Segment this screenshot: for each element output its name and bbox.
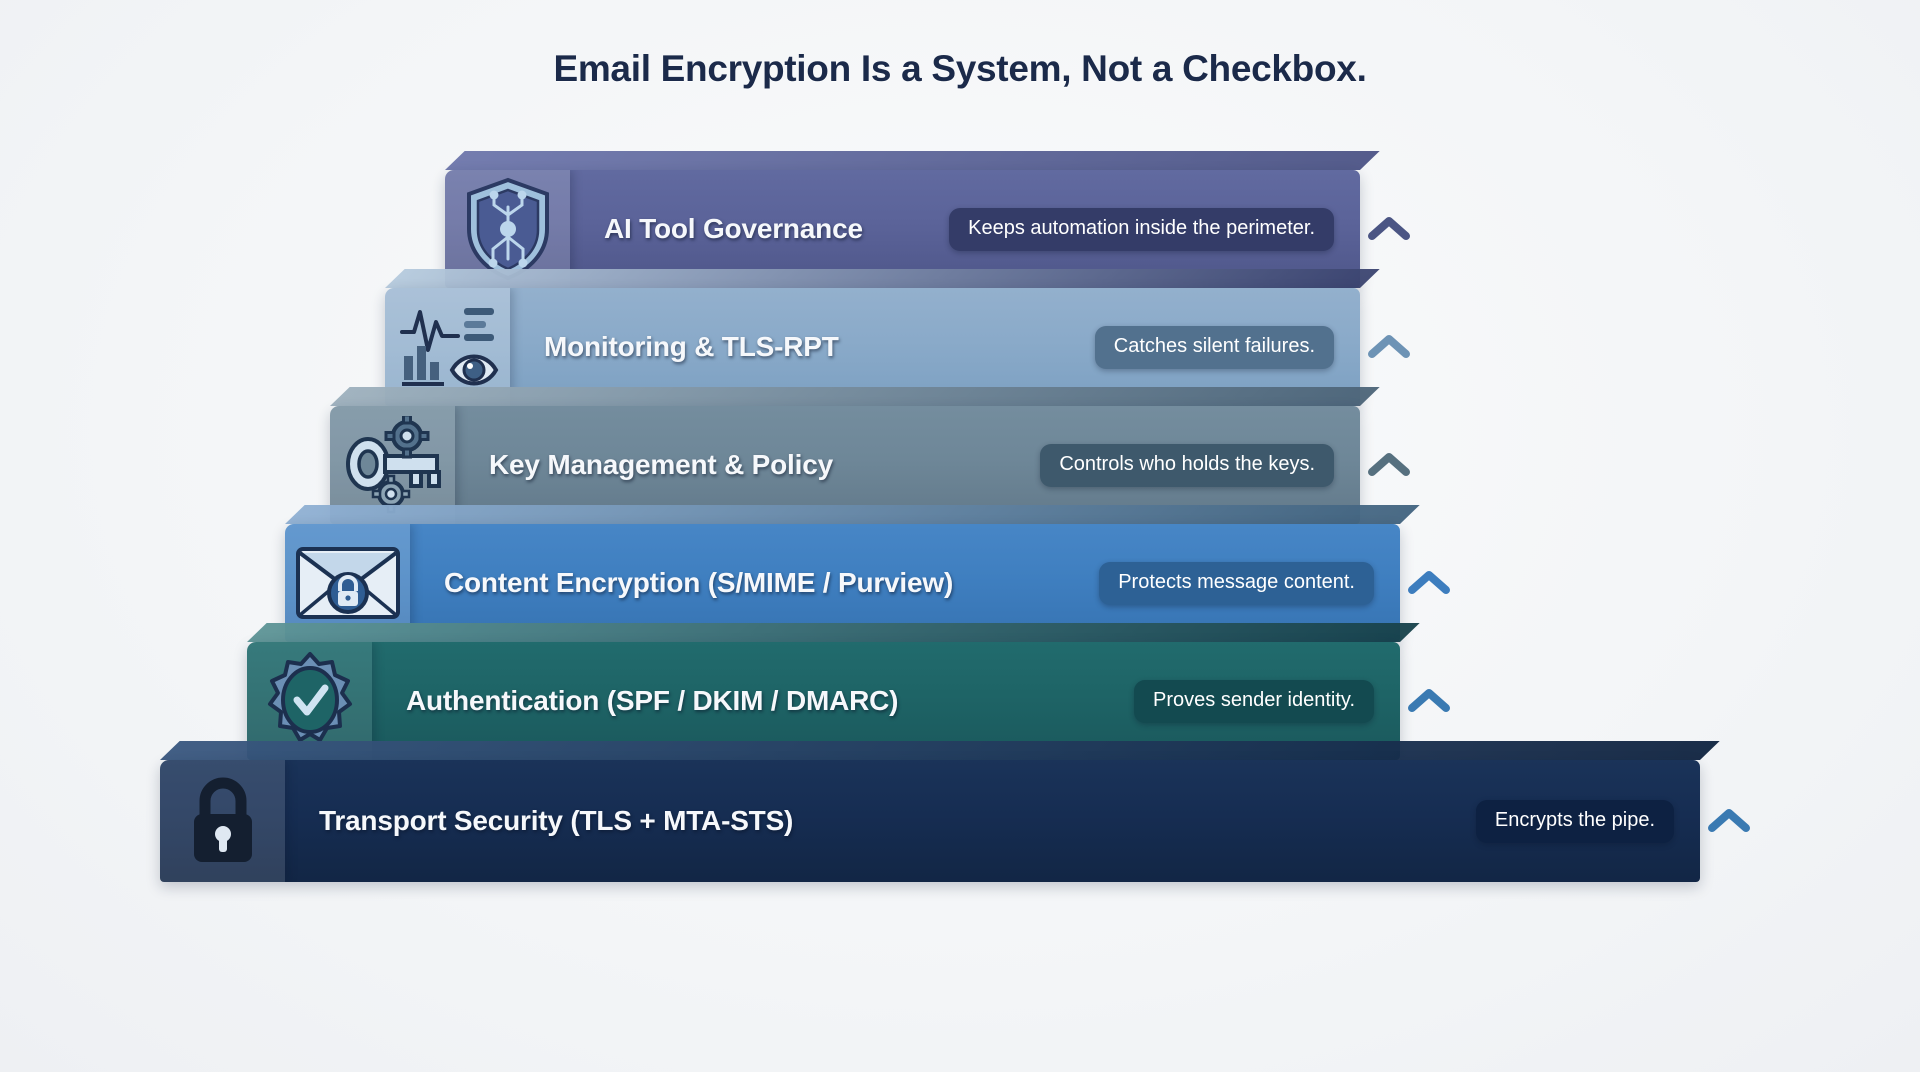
layer-transport-security[interactable]: Transport Security (TLS + MTA-STS) Encry… (160, 760, 1700, 882)
layer-badge: Protects message content. (1099, 562, 1374, 605)
layer-label: Content Encryption (S/MIME / Purview) (444, 567, 953, 599)
layer-label: AI Tool Governance (604, 213, 863, 245)
page-title: Email Encryption Is a System, Not a Chec… (0, 48, 1920, 90)
layer-label: Transport Security (TLS + MTA-STS) (319, 805, 793, 837)
layer-badge: Keeps automation inside the perimeter. (949, 208, 1334, 251)
layer-label: Key Management & Policy (489, 449, 833, 481)
pyramid-chart: AI Tool Governance Keeps automation insi… (0, 170, 1920, 1050)
layer-badge: Controls who holds the keys. (1040, 444, 1334, 487)
layer-badge: Catches silent failures. (1095, 326, 1334, 369)
padlock-icon (160, 760, 285, 882)
layer-top-bevel (285, 505, 1420, 524)
layer-top-bevel (160, 741, 1720, 760)
layer-top-bevel (330, 387, 1380, 406)
layer-front-face: Transport Security (TLS + MTA-STS) Encry… (160, 760, 1700, 882)
layer-badge: Proves sender identity. (1134, 680, 1374, 723)
layer-top-bevel (385, 269, 1380, 288)
layer-top-bevel (247, 623, 1420, 642)
layer-badge: Encrypts the pipe. (1476, 800, 1674, 843)
infographic-canvas: Email Encryption Is a System, Not a Chec… (0, 0, 1920, 1072)
collapse-chevron-up-icon[interactable] (1700, 762, 1758, 880)
layer-top-bevel (445, 151, 1380, 170)
layer-label: Authentication (SPF / DKIM / DMARC) (406, 685, 898, 717)
layer-label: Monitoring & TLS-RPT (544, 331, 839, 363)
